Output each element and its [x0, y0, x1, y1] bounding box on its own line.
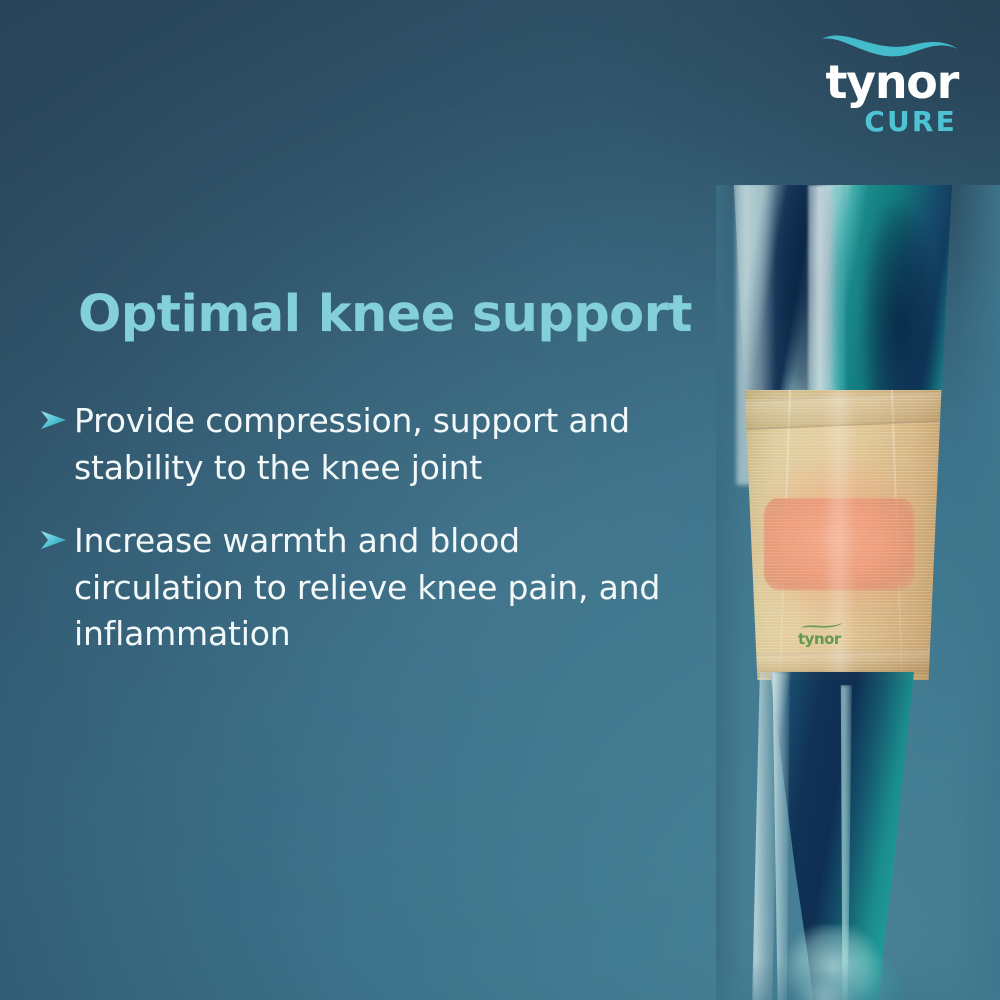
list-item-label: Provide compression, support and stabili…	[74, 398, 676, 492]
knee-support-brace: tynor	[736, 390, 950, 680]
knee-support-on-leg-photo: tynor	[716, 185, 1000, 1000]
arrow-chevron-icon	[36, 524, 70, 558]
photo-fade-left	[716, 185, 746, 1000]
logo-wordmark: tynor	[780, 60, 958, 105]
tynor-cure-logo[interactable]: tynor CURE	[780, 28, 960, 136]
benefits-list: Provide compression, support and stabili…	[36, 398, 676, 684]
page-title: Optimal knee support	[78, 288, 692, 342]
logo-subbrand: CURE	[780, 108, 957, 136]
photo-content: tynor	[716, 185, 1000, 1000]
photo-fade-bottom	[716, 960, 1000, 1000]
list-item-label: Increase warmth and blood circulation to…	[74, 518, 676, 659]
arrow-chevron-icon	[36, 404, 70, 438]
promo-banner: tynor tynor CURE Optimal knee support	[0, 0, 1000, 1000]
brace-brand-mark: tynor	[798, 630, 841, 648]
list-item: Increase warmth and blood circulation to…	[36, 518, 676, 659]
list-item: Provide compression, support and stabili…	[36, 398, 676, 492]
photo-fade-right	[956, 185, 1000, 1000]
